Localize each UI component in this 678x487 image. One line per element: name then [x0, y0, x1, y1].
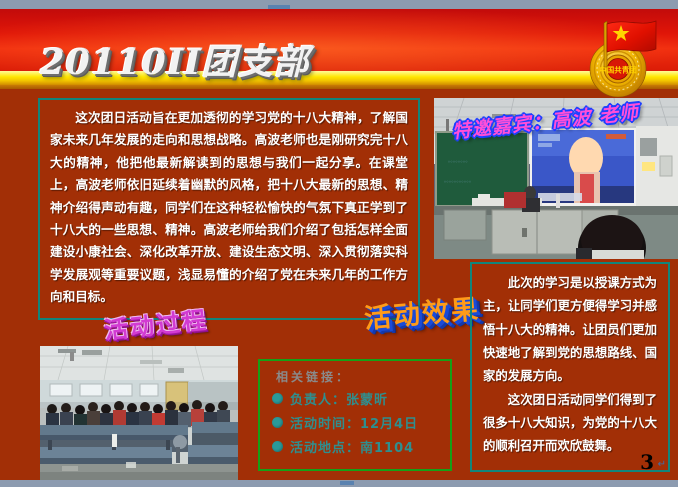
related-links-heading: 相关链接：: [276, 368, 450, 385]
page-number: 3: [640, 450, 654, 474]
link-item-label: 负责人：张蒙昕: [290, 389, 388, 408]
window-top-strip: [0, 0, 678, 9]
summary-textbox: 此次的学习是以授课方式为主，让同学们更方便得学习并感悟十八大的精神。让团员们更加…: [470, 262, 670, 472]
classroom-lecture-photo: 。。。。。。。。 。。。。。。。。。。。: [434, 98, 678, 259]
link-item-label: 活动时间：12月4日: [290, 413, 418, 432]
main-description-text: 这次团日活动旨在更加透彻的学习党的十八大精神，了解国家未来几年发展的走向和思想战…: [50, 107, 408, 309]
communist-youth-league-emblem: 中国共青团: [566, 15, 670, 101]
summary-paragraph-1: 此次的学习是以授课方式为主，让同学们更方便得学习并感悟十八大的精神。让团员们更加…: [483, 271, 657, 388]
main-description-textbox: 这次团日活动旨在更加透彻的学习党的十八大精神，了解国家未来几年发展的走向和思想战…: [38, 98, 420, 320]
svg-text:。。。。。。。。: 。。。。。。。。: [448, 158, 471, 164]
related-links-box: 相关链接： 负责人：张蒙昕 活动时间：12月4日 活动地点：南1104: [258, 359, 452, 471]
page-title: 20110II团支部: [40, 34, 310, 85]
summary-paragraph-2: 这次团日活动同学们得到了很多十八大知识，为党的十八大的顺利召开而欢欣鼓舞。: [483, 388, 657, 458]
paragraph-mark-icon: ↵: [658, 459, 666, 470]
presentation-slide: 20110II团支部: [0, 0, 678, 487]
scroll-tab-bottom[interactable]: [340, 481, 354, 485]
link-item-label: 活动地点：南1104: [290, 437, 414, 456]
svg-text:。。。。。。。。。。。: 。。。。。。。。。。。: [444, 178, 474, 184]
list-item[interactable]: 负责人：张蒙昕: [272, 389, 450, 408]
slide-canvas: 20110II团支部: [0, 9, 678, 480]
lecture-hall-students-photo: [40, 346, 238, 480]
window-bottom-strip: [0, 480, 678, 487]
list-item[interactable]: 活动地点：南1104: [272, 437, 450, 456]
bullet-icon: [272, 417, 283, 428]
list-item[interactable]: 活动时间：12月4日: [272, 413, 450, 432]
bullet-icon: [272, 393, 283, 404]
bullet-icon: [272, 441, 283, 452]
